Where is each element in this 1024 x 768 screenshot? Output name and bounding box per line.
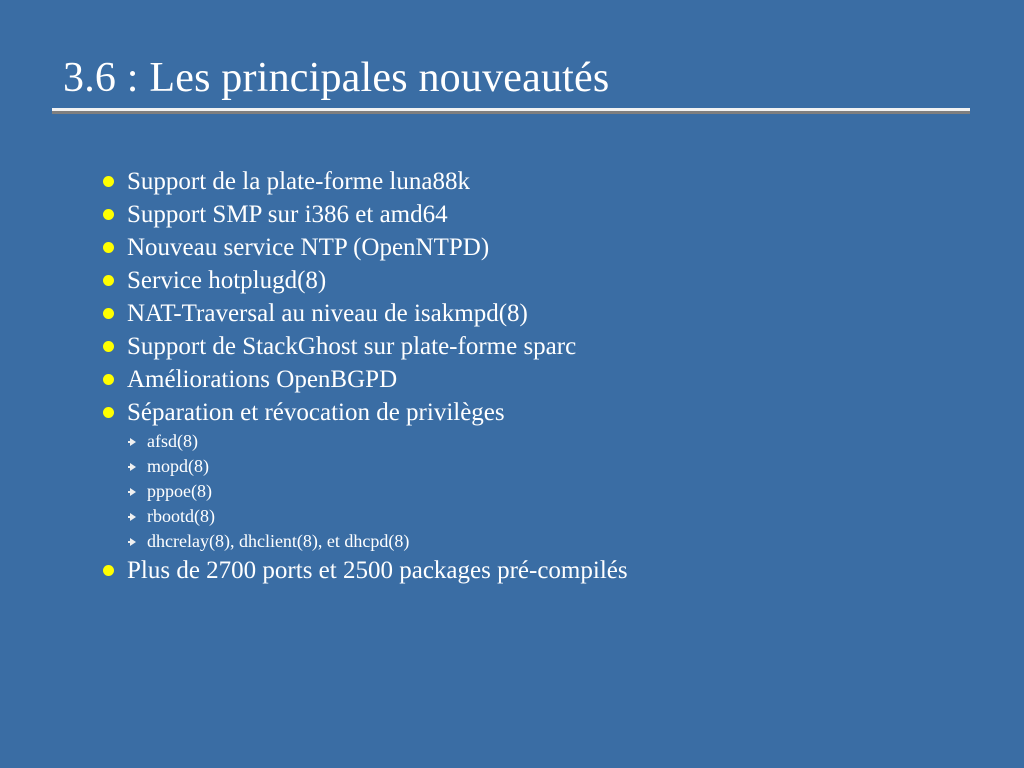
page-title: 3.6 : Les principales nouveautés bbox=[52, 52, 972, 104]
list-item: Améliorations OpenBGPD bbox=[103, 363, 983, 396]
arrow-right-icon bbox=[128, 504, 147, 529]
list-item: Nouveau service NTP (OpenNTPD) bbox=[103, 231, 983, 264]
sub-bullet-list: afsd(8)mopd(8)pppoe(8)rbootd(8)dhcrelay(… bbox=[128, 429, 983, 554]
list-item-label: Nouveau service NTP (OpenNTPD) bbox=[127, 231, 489, 264]
sub-list-item-label: pppoe(8) bbox=[147, 479, 212, 504]
sub-list-item: pppoe(8) bbox=[128, 479, 983, 504]
list-item-label: Améliorations OpenBGPD bbox=[127, 363, 397, 396]
bullet-dot-icon bbox=[103, 330, 127, 363]
sub-list-item-label: rbootd(8) bbox=[147, 504, 215, 529]
sub-list-item: mopd(8) bbox=[128, 454, 983, 479]
list-item-label: Support SMP sur i386 et amd64 bbox=[127, 198, 448, 231]
arrow-right-icon bbox=[128, 529, 147, 554]
sub-list-item: dhcrelay(8), dhclient(8), et dhcpd(8) bbox=[128, 529, 983, 554]
bullet-dot-icon bbox=[103, 231, 127, 264]
bullet-list: Support de la plate-forme luna88kSupport… bbox=[103, 165, 983, 587]
arrow-right-icon bbox=[128, 454, 147, 479]
bullet-dot-icon bbox=[103, 297, 127, 330]
list-item: Support de StackGhost sur plate-forme sp… bbox=[103, 330, 983, 363]
arrow-right-icon bbox=[128, 429, 147, 454]
bullet-dot-icon bbox=[103, 165, 127, 198]
slide-title-block: 3.6 : Les principales nouveautés bbox=[52, 52, 972, 104]
bullet-dot-icon bbox=[103, 198, 127, 231]
list-item-label: Support de la plate-forme luna88k bbox=[127, 165, 470, 198]
list-item: NAT-Traversal au niveau de isakmpd(8) bbox=[103, 297, 983, 330]
bullet-dot-icon bbox=[103, 396, 127, 429]
list-item-label: NAT-Traversal au niveau de isakmpd(8) bbox=[127, 297, 528, 330]
arrow-right-icon bbox=[128, 479, 147, 504]
list-item-label: Service hotplugd(8) bbox=[127, 264, 326, 297]
bullet-dot-icon bbox=[103, 554, 127, 587]
list-item-label: Séparation et révocation de privilèges bbox=[127, 396, 505, 429]
sub-list-item-label: mopd(8) bbox=[147, 454, 209, 479]
list-item: Support de la plate-forme luna88k bbox=[103, 165, 983, 198]
list-item: Séparation et révocation de privilèges bbox=[103, 396, 983, 429]
sub-list-item-label: dhcrelay(8), dhclient(8), et dhcpd(8) bbox=[147, 529, 409, 554]
list-item: Support SMP sur i386 et amd64 bbox=[103, 198, 983, 231]
sub-list-item: afsd(8) bbox=[128, 429, 983, 454]
bullet-dot-icon bbox=[103, 363, 127, 396]
sub-list-item: rbootd(8) bbox=[128, 504, 983, 529]
title-underline-rule bbox=[52, 108, 970, 111]
list-item: Plus de 2700 ports et 2500 packages pré-… bbox=[103, 554, 983, 587]
sub-list-item-label: afsd(8) bbox=[147, 429, 198, 454]
list-item: Service hotplugd(8) bbox=[103, 264, 983, 297]
bullet-dot-icon bbox=[103, 264, 127, 297]
presentation-slide: 3.6 : Les principales nouveautés Support… bbox=[0, 0, 1024, 768]
list-item-label: Support de StackGhost sur plate-forme sp… bbox=[127, 330, 576, 363]
list-item-label: Plus de 2700 ports et 2500 packages pré-… bbox=[127, 554, 628, 587]
